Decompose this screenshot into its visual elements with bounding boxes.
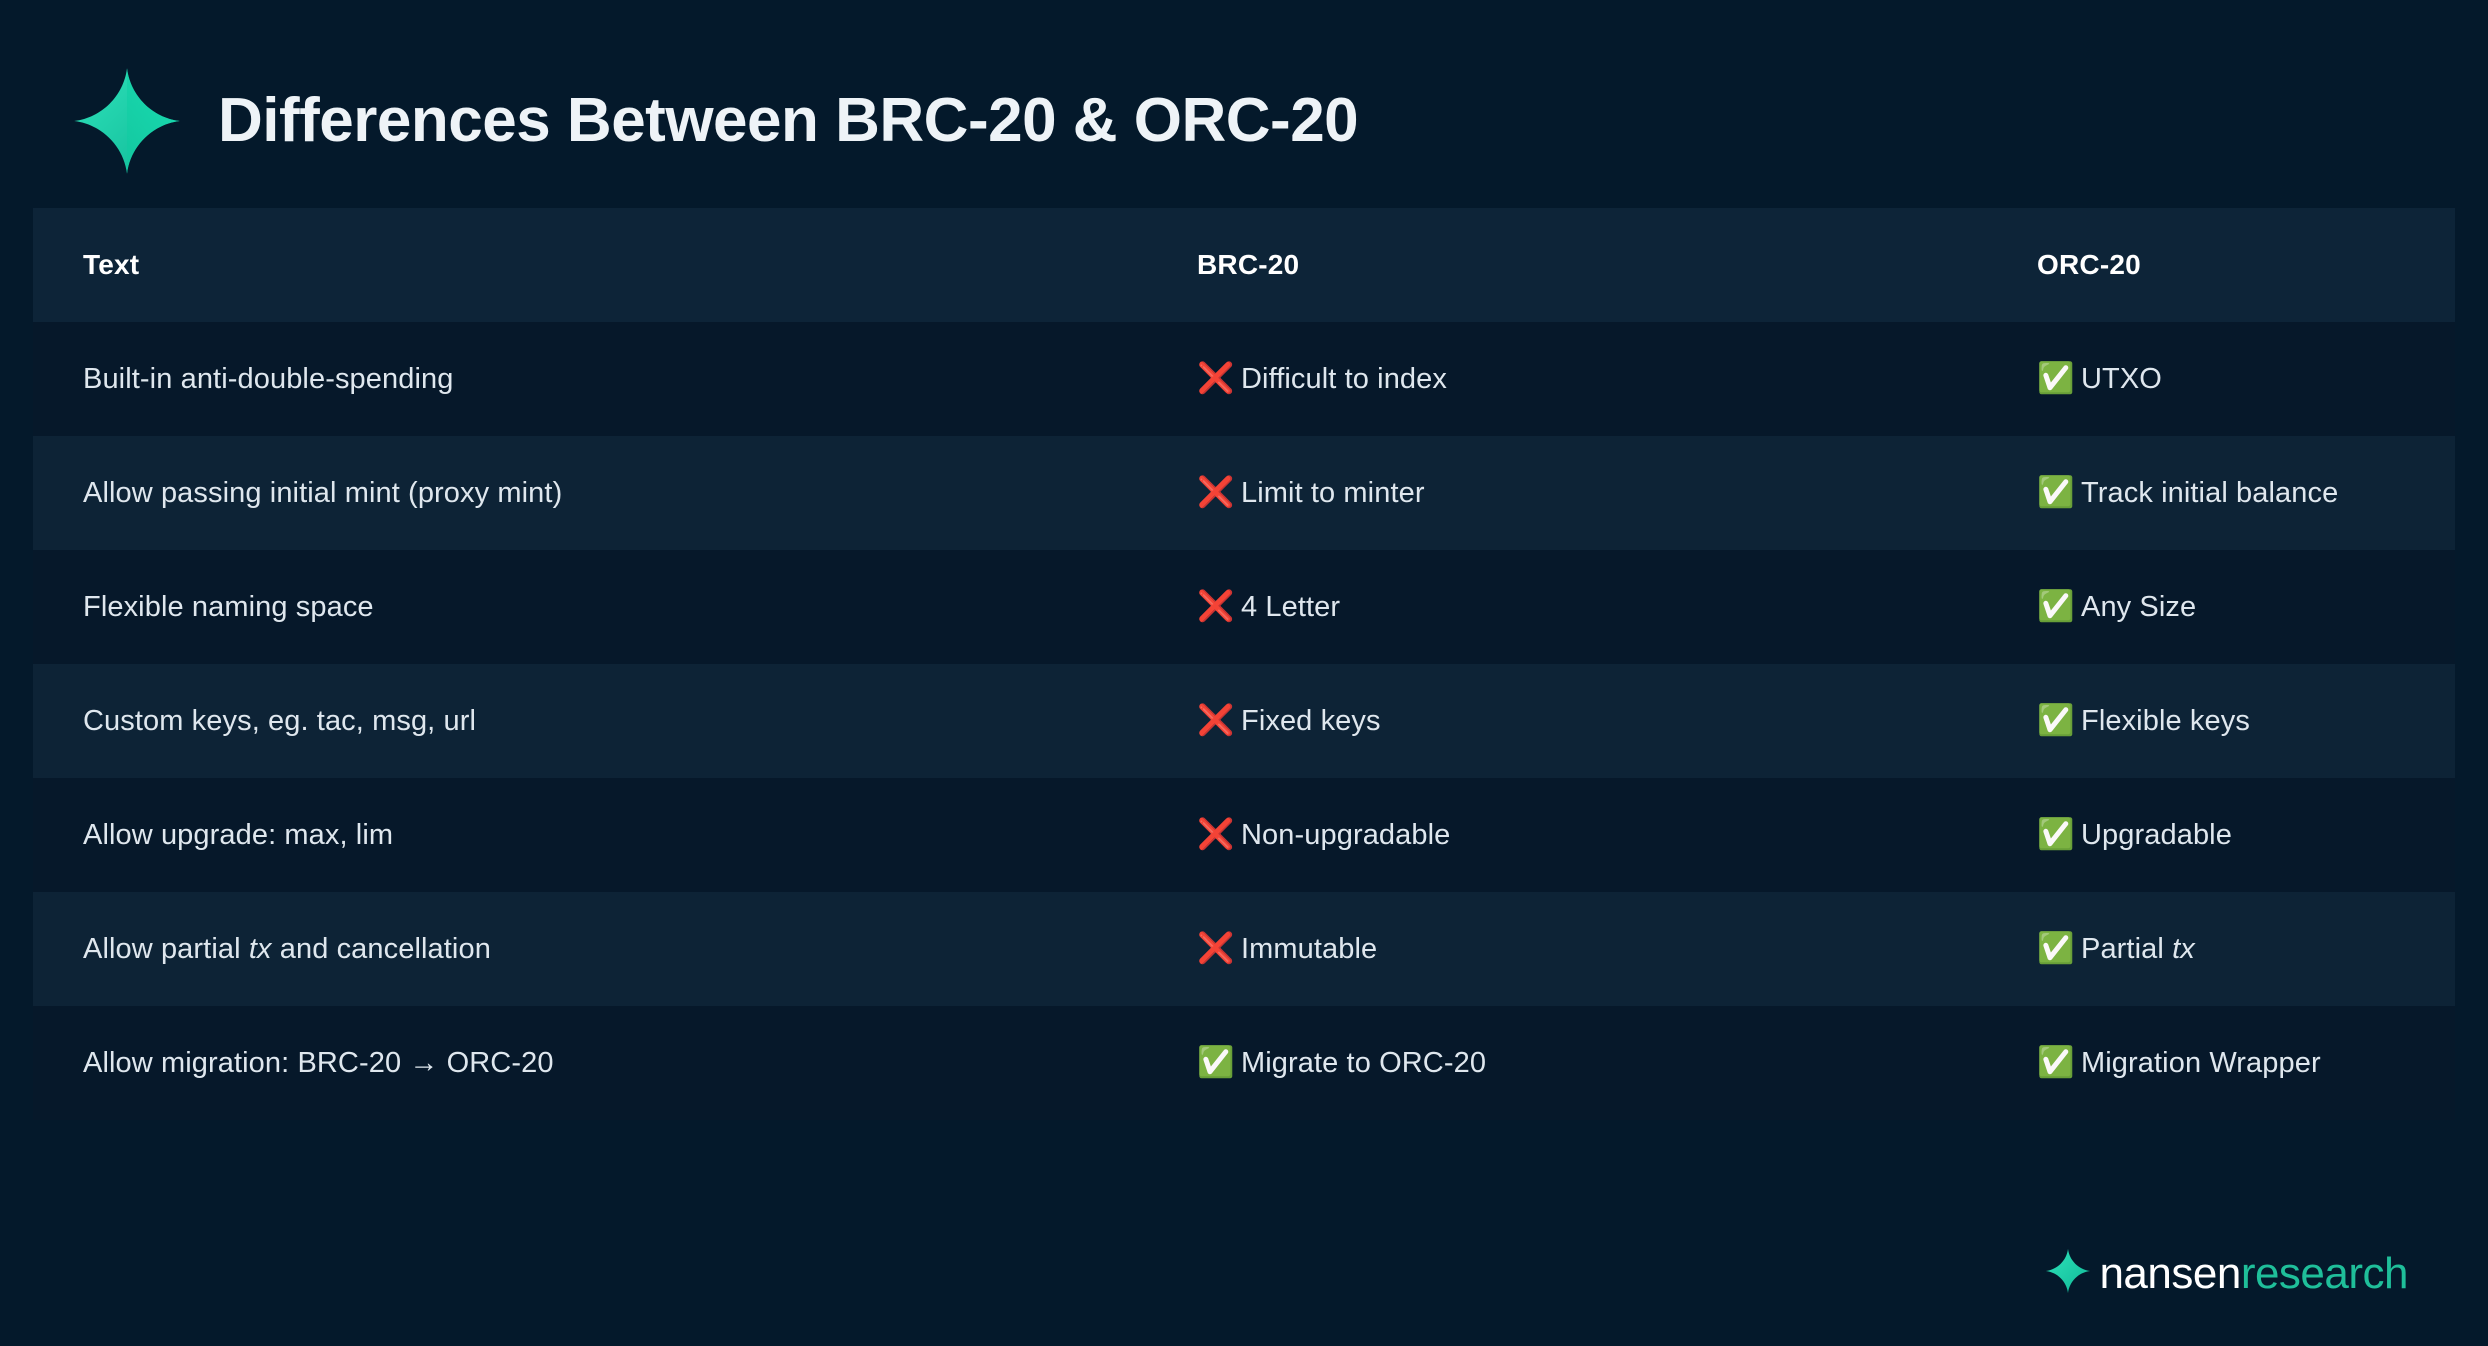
check-mark-button-icon: ✅ xyxy=(2037,934,2081,964)
cell-feature-text: Flexible naming space xyxy=(33,550,1147,664)
cell-orc20: ✅Flexible keys xyxy=(1987,664,2455,778)
check-mark-button-icon: ✅ xyxy=(2037,364,2081,394)
table-row: Flexible naming space❌4 Letter✅Any Size xyxy=(33,550,2455,664)
wordmark-nansen: nansen xyxy=(2099,1249,2240,1298)
plain-text: Allow partial xyxy=(83,933,249,965)
cell-label: Flexible naming space xyxy=(83,591,374,623)
cell-label: 4 Letter xyxy=(1241,591,1340,623)
emphasis-text: tx xyxy=(2172,933,2195,965)
column-header-text: Text xyxy=(33,208,1147,322)
cell-label: Allow upgrade: max, lim xyxy=(83,819,393,851)
cell-orc20: ✅Any Size xyxy=(1987,550,2455,664)
cell-brc20: ❌Limit to minter xyxy=(1147,436,1987,550)
cell-label: Fixed keys xyxy=(1241,705,1381,737)
cell-label: Track initial balance xyxy=(2081,477,2338,509)
plain-text: Partial xyxy=(2081,933,2172,965)
cell-label: Partial tx xyxy=(2081,933,2195,965)
plain-text: and cancellation xyxy=(272,933,491,965)
cell-label: Upgradable xyxy=(2081,819,2232,851)
cell-orc20: ✅Track initial balance xyxy=(1987,436,2455,550)
cell-orc20: ✅UTXO xyxy=(1987,322,2455,436)
cell-orc20: ✅Upgradable xyxy=(1987,778,2455,892)
cell-label: Non-upgradable xyxy=(1241,819,1450,851)
table-body: Built-in anti-double-spending❌Difficult … xyxy=(33,322,2455,1120)
cell-label: Migrate to ORC-20 xyxy=(1241,1047,1486,1079)
check-mark-button-icon: ✅ xyxy=(2037,592,2081,622)
cell-label: Migration Wrapper xyxy=(2081,1047,2321,1079)
cell-brc20: ❌Fixed keys xyxy=(1147,664,1987,778)
check-mark-button-icon: ✅ xyxy=(2037,706,2081,736)
cell-feature-text: Allow passing initial mint (proxy mint) xyxy=(33,436,1147,550)
cell-label: Flexible keys xyxy=(2081,705,2250,737)
slide-header: Differences Between BRC-20 & ORC-20 xyxy=(0,0,2488,200)
cell-label: Allow passing initial mint (proxy mint) xyxy=(83,477,562,509)
check-mark-button-icon: ✅ xyxy=(2037,478,2081,508)
four-point-star-icon xyxy=(2045,1248,2091,1294)
cross-mark-icon: ❌ xyxy=(1197,934,1241,964)
page-title: Differences Between BRC-20 & ORC-20 xyxy=(218,90,1358,152)
cell-label: Immutable xyxy=(1241,933,1377,965)
cross-mark-icon: ❌ xyxy=(1197,364,1241,394)
emphasis-text: tx xyxy=(249,933,272,965)
cell-orc20: ✅Migration Wrapper xyxy=(1987,1006,2455,1120)
cell-brc20: ❌Immutable xyxy=(1147,892,1987,1006)
cell-label: Any Size xyxy=(2081,591,2196,623)
cell-label: Difficult to index xyxy=(1241,363,1447,395)
cell-label: Custom keys, eg. tac, msg, url xyxy=(83,705,476,737)
cell-feature-text: Custom keys, eg. tac, msg, url xyxy=(33,664,1147,778)
table-row: Allow passing initial mint (proxy mint)❌… xyxy=(33,436,2455,550)
comparison-table: Text BRC-20 ORC-20 Built-in anti-double-… xyxy=(33,208,2455,1120)
four-point-star-icon xyxy=(72,66,182,176)
table-row: Built-in anti-double-spending❌Difficult … xyxy=(33,322,2455,436)
cell-feature-text: Allow partial tx and cancellation xyxy=(33,892,1147,1006)
table-row: Allow upgrade: max, lim❌Non-upgradable✅U… xyxy=(33,778,2455,892)
cell-brc20: ❌4 Letter xyxy=(1147,550,1987,664)
cell-feature-text: Allow upgrade: max, lim xyxy=(33,778,1147,892)
check-mark-button-icon: ✅ xyxy=(2037,1048,2081,1078)
cell-label: Limit to minter xyxy=(1241,477,1425,509)
cross-mark-icon: ❌ xyxy=(1197,820,1241,850)
cell-brc20: ❌Non-upgradable xyxy=(1147,778,1987,892)
cell-feature-text: Allow migration: BRC-20 → ORC-20 xyxy=(33,1006,1147,1120)
check-mark-button-icon: ✅ xyxy=(2037,820,2081,850)
cell-label: Built-in anti-double-spending xyxy=(83,363,453,395)
cell-brc20: ❌Difficult to index xyxy=(1147,322,1987,436)
cross-mark-icon: ❌ xyxy=(1197,592,1241,622)
cell-label: Allow migration: BRC-20 → ORC-20 xyxy=(83,1047,554,1079)
column-header-orc20: ORC-20 xyxy=(1987,208,2455,322)
table-row: Allow migration: BRC-20 → ORC-20✅Migrate… xyxy=(33,1006,2455,1120)
nansen-research-logo: nansenresearch xyxy=(2045,1248,2408,1300)
cell-orc20: ✅Partial tx xyxy=(1987,892,2455,1006)
cross-mark-icon: ❌ xyxy=(1197,478,1241,508)
table-row: Allow partial tx and cancellation❌Immuta… xyxy=(33,892,2455,1006)
cell-label: UTXO xyxy=(2081,363,2162,395)
wordmark-research: research xyxy=(2241,1249,2408,1298)
wordmark: nansenresearch xyxy=(2099,1252,2408,1296)
comparison-table-wrapper: Text BRC-20 ORC-20 Built-in anti-double-… xyxy=(33,208,2455,1120)
table-header: Text BRC-20 ORC-20 xyxy=(33,208,2455,322)
check-mark-button-icon: ✅ xyxy=(1197,1048,1241,1078)
table-header-row: Text BRC-20 ORC-20 xyxy=(33,208,2455,322)
slide-canvas: Differences Between BRC-20 & ORC-20 Text… xyxy=(0,0,2488,1346)
cell-brc20: ✅Migrate to ORC-20 xyxy=(1147,1006,1987,1120)
table-row: Custom keys, eg. tac, msg, url❌Fixed key… xyxy=(33,664,2455,778)
column-header-brc20: BRC-20 xyxy=(1147,208,1987,322)
cell-feature-text: Built-in anti-double-spending xyxy=(33,322,1147,436)
cross-mark-icon: ❌ xyxy=(1197,706,1241,736)
